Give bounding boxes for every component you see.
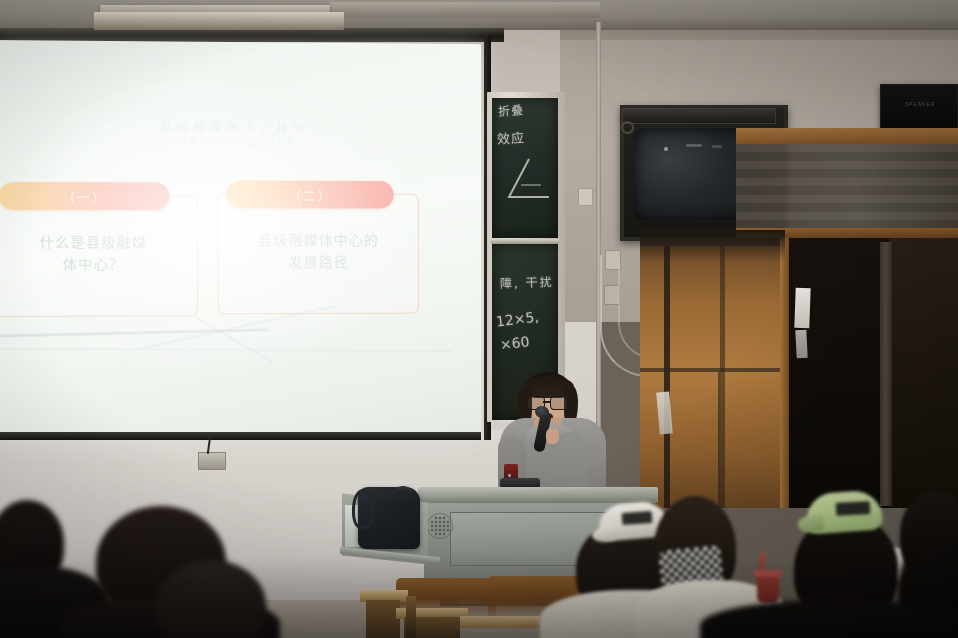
eyeglasses-icon	[527, 396, 569, 408]
chalk-text: 效应	[497, 127, 526, 147]
slide-ghost-subtitle: MEDIA CONVERGENCE	[0, 136, 474, 148]
ceiling-beam-secondary	[330, 2, 600, 18]
cabinet-wood-doors[interactable]	[640, 246, 782, 508]
slide-card-one-line2: 体中心？	[0, 256, 187, 278]
cabinet-seam	[720, 246, 725, 508]
slide-card-two-badge-label: （二）	[288, 185, 332, 204]
slide-ghost-title: 县级融媒体中心建设	[0, 118, 474, 136]
desk-leg	[406, 596, 416, 638]
backpack-strap	[392, 486, 414, 506]
cabinet-seam	[664, 246, 670, 508]
chalk-text: 障, 干扰	[500, 273, 554, 292]
slide-card-two: （二） 县级融媒体中心的 发展路径	[218, 193, 419, 314]
wall-speaker	[880, 84, 958, 134]
podium-grille-perforations	[430, 516, 450, 536]
desk-side-panel	[366, 600, 400, 638]
chalk-triangle-diagram	[503, 155, 547, 193]
slide-card-two-line1: 县级融媒体中心的	[228, 232, 408, 254]
cabinet-seam	[640, 368, 782, 372]
lecture-hall-photo: 县级融媒体中心建设 MEDIA CONVERGENCE （一） 什么是县级融媒 …	[0, 0, 958, 638]
slide-card-one-badge-label: （一）	[62, 187, 107, 206]
device-led-icon	[508, 474, 511, 477]
open-doorway[interactable]	[789, 238, 889, 508]
screen-valance	[94, 12, 344, 30]
cabinet-shadow	[640, 230, 785, 262]
projection-screen: 县级融媒体中心建设 MEDIA CONVERGENCE （一） 什么是县级融媒 …	[0, 40, 481, 438]
cap-logo-patch-icon	[622, 511, 653, 525]
slide-card-one-badge: （一）	[0, 182, 170, 210]
slide-card-two-line2: 发展路径	[228, 253, 408, 275]
backpack-strap	[352, 489, 374, 529]
tv-frame-hook	[621, 121, 634, 134]
slide-decoration-line	[0, 348, 452, 353]
screen-bottom-bar	[0, 432, 481, 440]
desk-edge	[460, 616, 540, 628]
lecturer-hand	[546, 428, 559, 444]
slide-card-one-line1: 什么是县级融媒	[0, 234, 187, 256]
cup-lid	[754, 570, 782, 577]
chalk-text: 折叠	[497, 101, 524, 120]
speaker-brand-label: SPEAKER	[898, 102, 942, 108]
tv-screen-glint	[686, 144, 702, 147]
eyeglass-bridge	[543, 401, 550, 403]
door-jamb	[780, 238, 789, 508]
podium-top-surface	[418, 487, 658, 503]
tv-screen-glint	[712, 145, 722, 148]
wall-junction-box	[198, 452, 226, 470]
cabinet-top-shelf	[736, 128, 958, 144]
spacer	[795, 282, 798, 285]
slide-card-two-badge: （二）	[226, 181, 393, 209]
slide-card-one: （一） 什么是县级融媒 体中心？	[0, 195, 198, 317]
triangle-icon	[503, 155, 555, 201]
paper-note	[795, 330, 807, 359]
paper-note	[794, 288, 810, 328]
eyeglass-lens	[550, 396, 568, 410]
doorway-far	[889, 238, 958, 508]
cabinet-seam	[718, 372, 720, 508]
wall-outlet	[578, 188, 593, 206]
cap-logo-patch-icon	[836, 501, 871, 516]
red-drink-cup	[757, 573, 779, 603]
slide-decoration-line	[196, 317, 273, 363]
tv-frame-top-bar	[622, 108, 776, 124]
door-post	[880, 242, 892, 506]
slide-card-two-body: 县级融媒体中心的 发展路径	[219, 232, 418, 275]
slide-card-one-body: 什么是县级融媒 体中心？	[0, 234, 197, 278]
cabinet-louver-highlight	[736, 144, 958, 228]
tv-screen-glint	[664, 147, 668, 151]
